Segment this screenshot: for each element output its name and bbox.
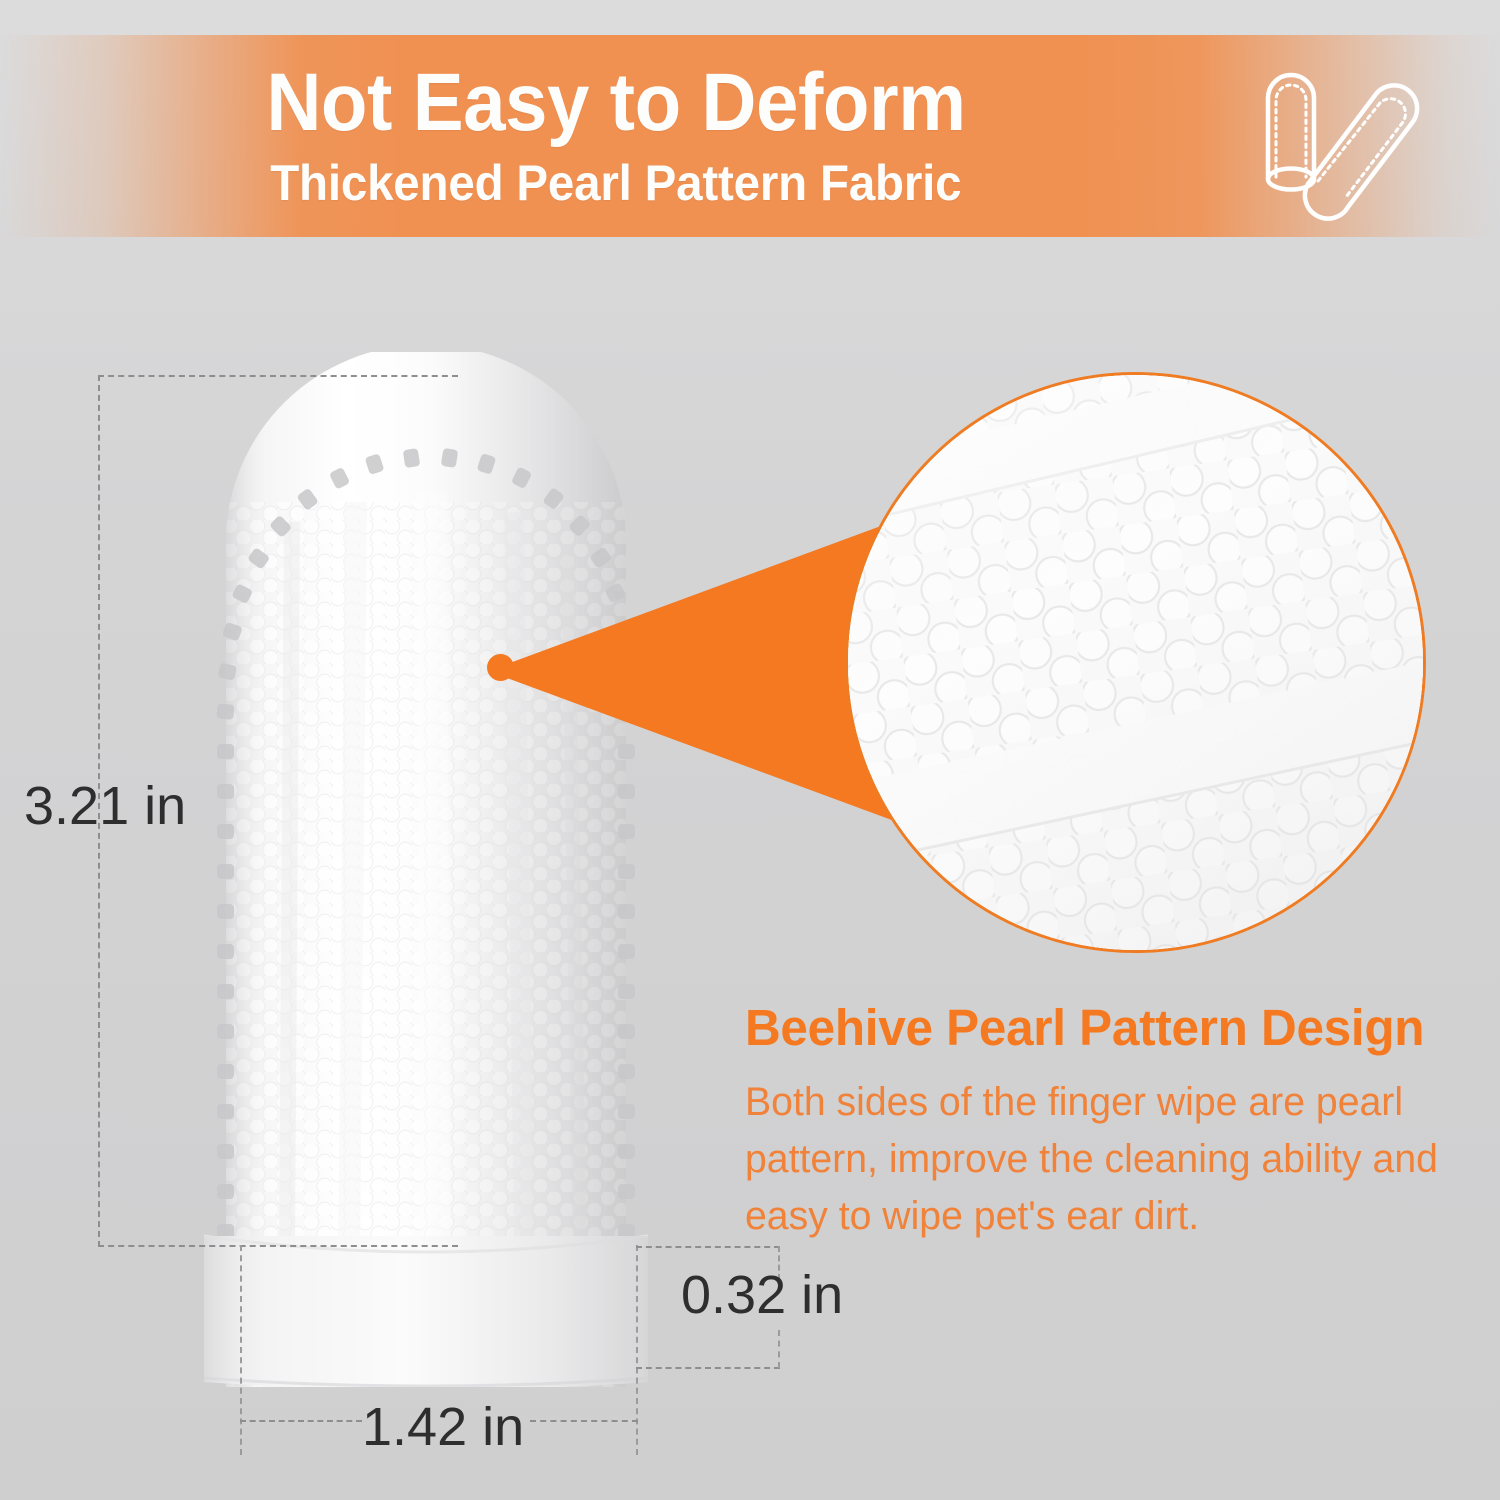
- header-banner: Not Easy to Deform Thickened Pearl Patte…: [0, 35, 1500, 237]
- finger-wipe-pair-icon: [1242, 51, 1442, 227]
- wipe-body: [224, 352, 628, 1387]
- thickness-lower-tick: [778, 1330, 780, 1368]
- feature-text-block: Beehive Pearl Pattern Design Both sides …: [745, 1000, 1461, 1244]
- thickness-top-line: [636, 1246, 780, 1248]
- width-left-extension: [240, 1245, 242, 1455]
- height-top-tick: [98, 375, 458, 377]
- pearl-pattern-closeup: [848, 375, 1423, 950]
- feature-description: Both sides of the finger wipe are pearl …: [745, 1074, 1447, 1244]
- height-label: 3.21 in: [24, 775, 186, 837]
- width-label: 1.42 in: [362, 1396, 524, 1458]
- height-bottom-tick: [98, 1245, 458, 1247]
- width-line-left: [240, 1420, 362, 1422]
- feature-title: Beehive Pearl Pattern Design: [745, 1000, 1440, 1056]
- banner-title: Not Easy to Deform: [266, 62, 965, 143]
- thickness-label: 0.32 in: [681, 1264, 843, 1326]
- width-right-extension: [636, 1245, 638, 1455]
- banner-text-group: Not Easy to Deform Thickened Pearl Patte…: [0, 35, 1232, 237]
- finger-wipe-illustration: [196, 352, 656, 1387]
- wipe-cuff: [204, 1236, 648, 1387]
- magnifier-circle: [845, 372, 1426, 953]
- width-line-right: [530, 1420, 638, 1422]
- banner-subtitle: Thickened Pearl Pattern Fabric: [270, 157, 961, 210]
- infographic-canvas: Not Easy to Deform Thickened Pearl Patte…: [0, 0, 1500, 1500]
- thickness-bottom-line: [636, 1367, 780, 1369]
- product-image: [196, 352, 656, 1387]
